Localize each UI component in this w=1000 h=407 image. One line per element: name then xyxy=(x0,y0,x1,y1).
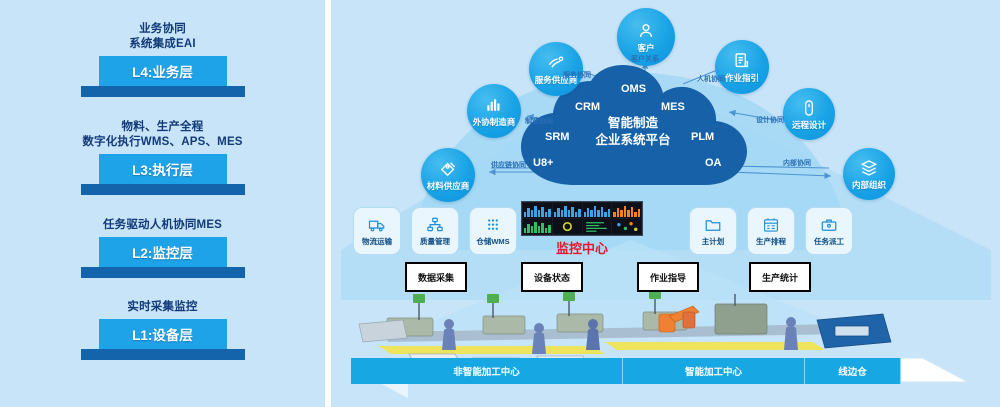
infographic-root: 业务协同系统集成EAIL4:业务层物料、生产全程数字化执行WMS、APS、MES… xyxy=(0,0,1000,407)
folder-icon xyxy=(704,216,722,234)
dashboard-panel-4 xyxy=(523,219,552,234)
layer-caption-line1: 业务协同 xyxy=(0,22,325,37)
floor-zone-2: 线边仓 xyxy=(805,358,901,384)
connection-label-1: 服务协同 xyxy=(563,70,591,80)
cloud-module-plm[interactable]: PLM xyxy=(691,131,714,143)
function-chip-truck[interactable]: 物流运输 xyxy=(353,207,401,255)
layer-slab-label: L1:设备层 xyxy=(0,324,325,344)
cloud-module-oa[interactable]: OA xyxy=(705,157,722,169)
layer-slab-1[interactable]: L1:设备层 xyxy=(0,319,325,363)
node-remote-design[interactable]: 远程设计 xyxy=(783,88,835,140)
document-icon xyxy=(732,51,752,71)
floor-callout-0[interactable]: 数据采集 xyxy=(405,262,467,292)
function-chip-label: 生产排程 xyxy=(756,236,786,247)
dashboard-panel-3 xyxy=(612,203,641,218)
layer-caption-line1: 任务驱动人机协同MES xyxy=(0,218,325,233)
function-chip-label: 仓储WMS xyxy=(476,236,509,247)
floor-callout-2[interactable]: 作业指导 xyxy=(637,262,699,292)
layer-slab-label: L3:执行层 xyxy=(0,159,325,179)
node-label-outsource-maker: 外协制造商 xyxy=(473,116,516,128)
connection-label-5: 供应链协同 xyxy=(491,160,526,170)
node-work-instruction[interactable]: 作业指引 xyxy=(715,40,769,94)
monitor-dashboard[interactable] xyxy=(521,201,643,236)
dashboard-panel-1 xyxy=(553,203,582,218)
slab-side-face xyxy=(81,184,245,195)
layer-slab-label: L2:监控层 xyxy=(0,242,325,262)
user-icon xyxy=(636,21,656,41)
cloud-module-u8[interactable]: U8+ xyxy=(533,157,554,169)
layer-caption-line2: 数字化执行WMS、APS、MES xyxy=(0,135,325,150)
node-label-material-supplier: 材料供应商 xyxy=(427,180,470,192)
node-label-work-instruction: 作业指引 xyxy=(725,72,759,84)
connection-label-2: 人机协同 xyxy=(697,74,725,84)
factory-icon xyxy=(484,95,504,115)
function-chip-calendar[interactable]: 生产排程 xyxy=(747,207,795,255)
node-service-supplier[interactable]: 服务供应商 xyxy=(529,42,583,96)
node-material-supplier[interactable]: 材料供应商 xyxy=(421,148,475,202)
function-chip-hierarchy[interactable]: 质量管理 xyxy=(411,207,459,255)
cloud-module-oms[interactable]: OMS xyxy=(621,83,646,95)
slab-side-face xyxy=(81,86,245,97)
toolbox-icon xyxy=(820,216,838,234)
dashboard-panel-6 xyxy=(583,219,612,234)
cloud-module-crm[interactable]: CRM xyxy=(575,101,600,113)
calendar-icon xyxy=(762,216,780,234)
layer-caption-3: 物料、生产全程数字化执行WMS、APS、MES xyxy=(0,120,325,150)
floor-callout-1[interactable]: 设备状态 xyxy=(521,262,583,292)
function-chip-label: 物流运输 xyxy=(362,236,392,247)
layer-caption-2: 任务驱动人机协同MES xyxy=(0,218,325,233)
cloud-module-srm[interactable]: SRM xyxy=(545,131,569,143)
monitor-center-label: 监控中心 xyxy=(491,238,673,257)
factory-floor: 数据采集设备状态作业指导生产统计 非智能加工中心智能加工中心线边仓 xyxy=(343,262,988,402)
dashboard-panel-7 xyxy=(612,219,641,234)
tag-icon xyxy=(438,159,458,179)
dashboard-panel-5 xyxy=(553,219,582,234)
floor-zone-1: 智能加工中心 xyxy=(623,358,805,384)
mouse-icon xyxy=(799,98,819,118)
layer-slab-label: L4:业务层 xyxy=(0,61,325,81)
connection-label-6: 内部协同 xyxy=(783,158,811,168)
function-chip-grid-dots[interactable]: 仓储WMS xyxy=(469,207,517,255)
layer-caption-line2: 系统集成EAI xyxy=(0,37,325,52)
layer-slab-2[interactable]: L2:监控层 xyxy=(0,237,325,281)
layer-caption-4: 业务协同系统集成EAI xyxy=(0,22,325,52)
node-label-customer: 客户 xyxy=(637,42,654,54)
layer-caption-1: 实时采集监控 xyxy=(0,300,325,315)
node-label-remote-design: 远程设计 xyxy=(792,119,826,131)
right-panel-platform-diagram: 智能制造 企业系统平台 OMSCRMMESSRMPLMU8+OA 客户服务供应商… xyxy=(331,0,1000,407)
layer-group-2: 任务驱动人机协同MESL2:监控层 xyxy=(0,218,325,281)
layer-group-4: 业务协同系统集成EAIL4:业务层 xyxy=(0,22,325,100)
slab-side-face xyxy=(81,349,245,360)
node-internal-org[interactable]: 内部组织 xyxy=(843,148,895,200)
function-chip-label: 质量管理 xyxy=(420,236,450,247)
connection-label-4: 设计协同 xyxy=(756,115,784,125)
function-chip-folder[interactable]: 主计划 xyxy=(689,207,737,255)
floor-zone-0: 非智能加工中心 xyxy=(351,358,623,384)
layer-caption-line1: 实时采集监控 xyxy=(0,300,325,315)
grid-dots-icon xyxy=(484,216,502,234)
hierarchy-icon xyxy=(426,216,444,234)
connection-label-3: 制造协同 xyxy=(525,116,553,126)
function-chip-toolbox[interactable]: 任务派工 xyxy=(805,207,853,255)
function-chip-label: 任务派工 xyxy=(814,236,844,247)
dashboard-panel-0 xyxy=(523,203,552,218)
layer-slab-3[interactable]: L3:执行层 xyxy=(0,154,325,198)
node-label-internal-org: 内部组织 xyxy=(852,179,886,191)
layer-caption-line1: 物料、生产全程 xyxy=(0,120,325,135)
cloud-module-mes[interactable]: MES xyxy=(661,101,685,113)
layer-group-3: 物料、生产全程数字化执行WMS、APS、MESL3:执行层 xyxy=(0,120,325,198)
floor-callout-3[interactable]: 生产统计 xyxy=(749,262,811,292)
layers-icon xyxy=(859,158,879,178)
layer-group-1: 实时采集监控L1:设备层 xyxy=(0,300,325,363)
function-chip-label: 主计划 xyxy=(702,236,725,247)
dashboard-panel-2 xyxy=(583,203,612,218)
truck-icon xyxy=(368,216,386,234)
left-panel-layer-model: 业务协同系统集成EAIL4:业务层物料、生产全程数字化执行WMS、APS、MES… xyxy=(0,0,325,407)
slab-side-face xyxy=(81,267,245,278)
connection-label-0: 客户关系 xyxy=(631,54,659,64)
layer-slab-4[interactable]: L4:业务层 xyxy=(0,56,325,100)
